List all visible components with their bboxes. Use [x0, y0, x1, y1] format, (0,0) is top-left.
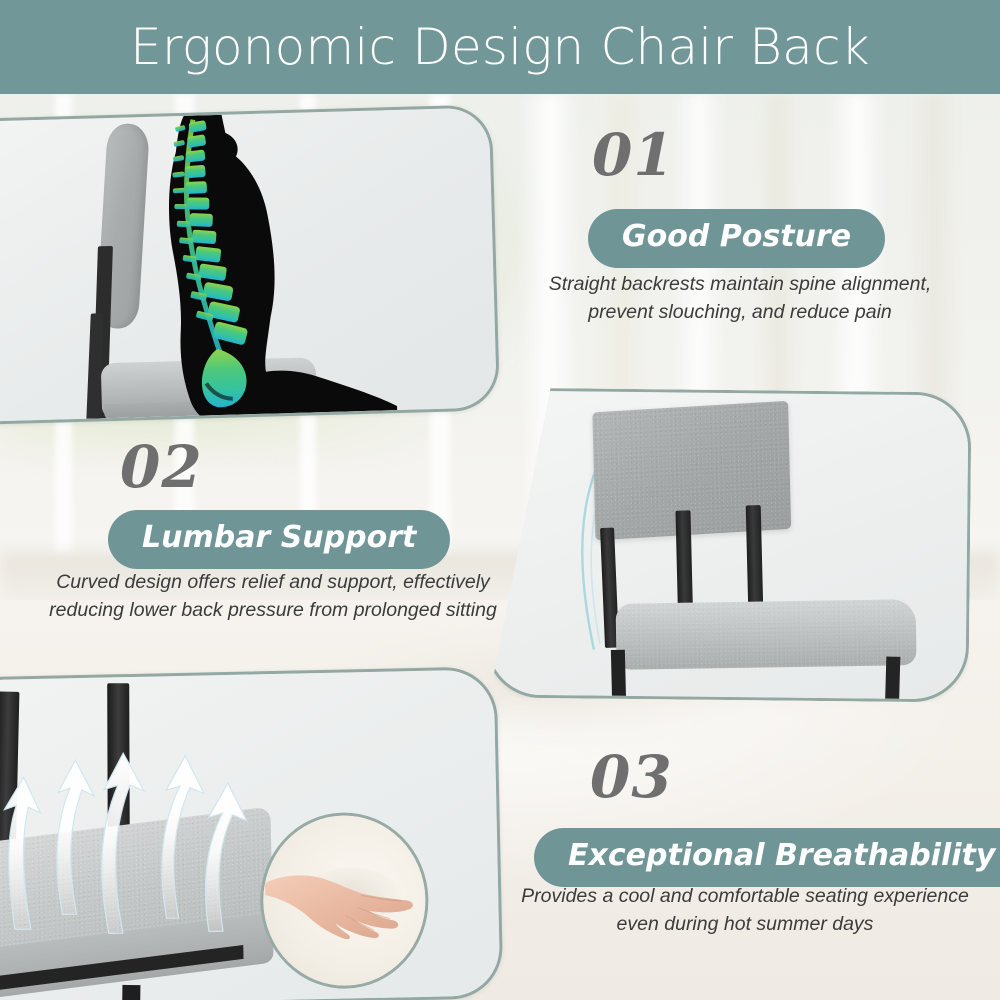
hand-shape	[265, 873, 414, 941]
airflow-arrows-svg	[0, 704, 291, 940]
chair-leg	[611, 650, 626, 700]
seated-person-silhouette	[89, 107, 411, 422]
chair-back-slat	[746, 505, 763, 603]
silhouette-svg	[89, 107, 411, 422]
feature-title-pill-3: Exceptional Breathability	[534, 828, 1000, 887]
page-title: Ergonomic Design Chair Back	[130, 22, 870, 72]
panel-1-photo	[0, 107, 497, 422]
feature-image-panel-2	[484, 387, 971, 702]
foam-detail-inset	[259, 811, 431, 990]
feature-description-1: Straight backrests maintain spine alignm…	[520, 270, 960, 327]
feature-title-pill-2: Lumbar Support	[108, 510, 450, 569]
chair-leg	[885, 657, 901, 700]
chair-leg	[122, 985, 140, 1000]
feature-image-panel-3	[0, 666, 503, 1000]
feature-number-2: 02	[120, 438, 203, 496]
hand-pressing-foam	[265, 866, 416, 941]
arrow-group	[3, 751, 249, 936]
panel-2-photo	[487, 391, 968, 700]
fabric-texture	[616, 599, 917, 670]
chair-seat-cushion	[616, 599, 917, 670]
header-banner: Ergonomic Design Chair Back	[0, 0, 1000, 94]
hand-svg	[265, 866, 416, 941]
infographic-page: Ergonomic Design Chair Back	[0, 0, 1000, 1000]
feature-number-1: 01	[592, 126, 675, 184]
feature-description-2: Curved design offers relief and support,…	[48, 568, 498, 625]
feature-title-pill-1: Good Posture	[588, 209, 885, 268]
panel-3-photo	[0, 669, 500, 1000]
airflow-arrows	[0, 704, 291, 940]
feature-description-3: Provides a cool and comfortable seating …	[520, 882, 970, 939]
fabric-texture	[592, 401, 791, 541]
chair-backrest-cushion	[592, 401, 791, 541]
feature-number-3: 03	[590, 748, 673, 806]
feature-image-panel-1	[0, 104, 500, 425]
